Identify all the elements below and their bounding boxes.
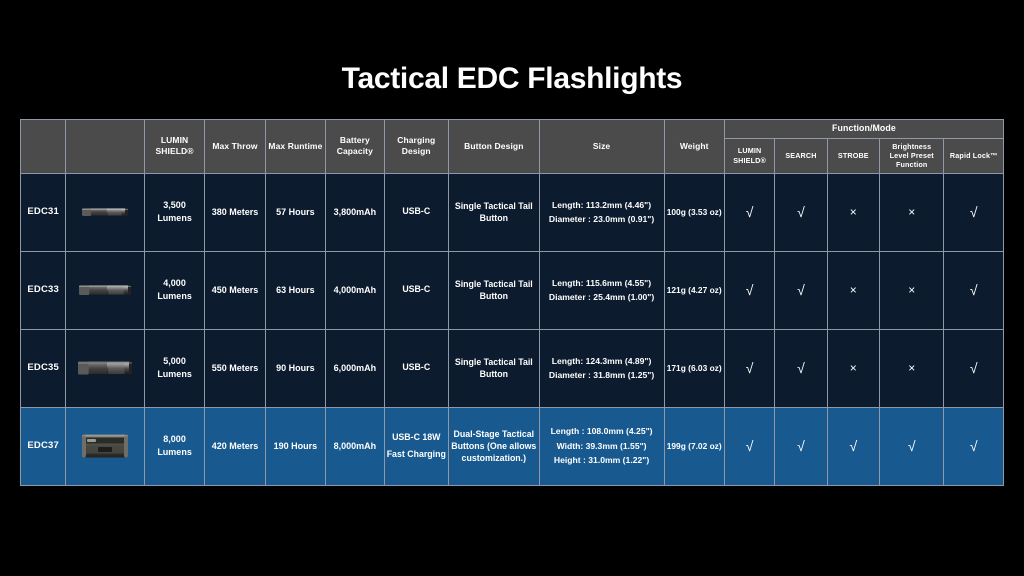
size-line-1: Length: 115.6mm (4.55"): [542, 276, 662, 291]
cell-size: Length : 108.0mm (4.25")Width: 39.3mm (1…: [539, 407, 664, 485]
cell-charging-design: USB-C 18WFast Charging: [384, 407, 448, 485]
table-row[interactable]: EDC35 5,000 Lumens550 Meters90 Hours6,00…: [21, 329, 1004, 407]
header-model: [21, 120, 66, 174]
cell-battery-capacity: 4,000mAh: [326, 251, 384, 329]
check-icon: √: [797, 358, 805, 378]
cross-icon: ×: [908, 360, 915, 377]
header-weight: Weight: [664, 120, 724, 174]
cell-battery-capacity: 6,000mAh: [326, 329, 384, 407]
cell-button-design: Single Tactical Tail Button: [448, 251, 539, 329]
cell-func-strobe: ×: [827, 173, 879, 251]
header-func-brightness: Brightness Level Preset Function: [879, 138, 943, 173]
cell-func-lumin-shield: √: [724, 329, 774, 407]
cell-size: Length: 124.3mm (4.89")Diameter : 31.8mm…: [539, 329, 664, 407]
cell-func-rapid-lock: √: [944, 173, 1004, 251]
page-title: Tactical EDC Flashlights: [0, 62, 1024, 96]
cell-max-throw: 420 Meters: [205, 407, 265, 485]
cell-button-design: Single Tactical Tail Button: [448, 329, 539, 407]
check-icon: √: [797, 280, 805, 300]
header-func-rapid-lock: Rapid Lock™: [944, 138, 1004, 173]
check-icon: √: [797, 202, 805, 222]
cell-func-lumin-shield: √: [724, 173, 774, 251]
cell-func-rapid-lock: √: [944, 251, 1004, 329]
check-icon: √: [746, 436, 754, 456]
cell-charging-design: USB-C: [384, 173, 448, 251]
cell-func-strobe: ×: [827, 251, 879, 329]
check-icon: √: [746, 358, 754, 378]
cell-model: EDC35: [21, 329, 66, 407]
cross-icon: ×: [850, 282, 857, 299]
check-icon: √: [970, 202, 978, 222]
check-icon: √: [746, 280, 754, 300]
cell-max-throw: 550 Meters: [205, 329, 265, 407]
charging-line-1: USB-C: [387, 359, 446, 377]
flashlight-edc37: [66, 407, 145, 485]
flashlight-edc31: [66, 173, 145, 251]
size-line-1: Length: 113.2mm (4.46"): [542, 198, 662, 213]
check-icon: √: [908, 436, 916, 456]
cell-func-brightness: ×: [879, 329, 943, 407]
cell-weight: 199g (7.02 oz): [664, 407, 724, 485]
header-function-mode: Function/Mode: [724, 120, 1003, 139]
size-line-2: Width: 39.3mm (1.55"): [542, 439, 662, 454]
cell-weight: 100g (3.53 oz): [664, 173, 724, 251]
cell-weight: 121g (4.27 oz): [664, 251, 724, 329]
cross-icon: ×: [908, 204, 915, 221]
cell-max-runtime: 90 Hours: [265, 329, 325, 407]
cell-lumin-shield: 8,000 Lumens: [144, 407, 204, 485]
cell-model: EDC37: [21, 407, 66, 485]
cell-size: Length: 115.6mm (4.55")Diameter : 25.4mm…: [539, 251, 664, 329]
cell-max-throw: 380 Meters: [205, 173, 265, 251]
size-line-1: Length : 108.0mm (4.25"): [542, 424, 662, 439]
flashlight-illustration: [74, 426, 136, 466]
cell-charging-design: USB-C: [384, 251, 448, 329]
check-icon: √: [849, 436, 857, 456]
cell-model: EDC31: [21, 173, 66, 251]
spec-comparison-table: LUMIN SHIELD® Max Throw Max Runtime Batt…: [20, 119, 1004, 486]
cell-charging-design: USB-C: [384, 329, 448, 407]
check-icon: √: [970, 436, 978, 456]
cell-func-lumin-shield: √: [724, 407, 774, 485]
cell-func-rapid-lock: √: [944, 329, 1004, 407]
table-row[interactable]: EDC33 4,000 Lumens450 Meters63 Hours4,00…: [21, 251, 1004, 329]
cell-button-design: Dual-Stage Tactical Buttons (One allows …: [448, 407, 539, 485]
charging-line-1: USB-C: [387, 281, 446, 299]
table-row[interactable]: EDC37 8,000 Lumens420 Meters190 Hours8,0…: [21, 407, 1004, 485]
cross-icon: ×: [850, 360, 857, 377]
table-body: EDC31 3,500 Lumens380 Meters57 Hours3,80…: [21, 173, 1004, 485]
cell-max-runtime: 190 Hours: [265, 407, 325, 485]
header-button-design: Button Design: [448, 120, 539, 174]
header-image: [66, 120, 145, 174]
header-charging-design: Charging Design: [384, 120, 448, 174]
size-line-1: Length: 124.3mm (4.89"): [542, 354, 662, 369]
cell-func-rapid-lock: √: [944, 407, 1004, 485]
header-max-runtime: Max Runtime: [265, 120, 325, 174]
cell-func-brightness: √: [879, 407, 943, 485]
cell-size: Length: 113.2mm (4.46")Diameter : 23.0mm…: [539, 173, 664, 251]
cell-lumin-shield: 5,000 Lumens: [144, 329, 204, 407]
header-func-strobe: STROBE: [827, 138, 879, 173]
cross-icon: ×: [850, 204, 857, 221]
flashlight-edc33: [66, 251, 145, 329]
cell-model: EDC33: [21, 251, 66, 329]
cell-func-strobe: √: [827, 407, 879, 485]
cell-lumin-shield: 3,500 Lumens: [144, 173, 204, 251]
flashlight-illustration: [74, 192, 136, 232]
cell-func-lumin-shield: √: [724, 251, 774, 329]
cell-max-throw: 450 Meters: [205, 251, 265, 329]
check-icon: √: [746, 202, 754, 222]
cell-func-strobe: ×: [827, 329, 879, 407]
header-max-throw: Max Throw: [205, 120, 265, 174]
spec-table-container: LUMIN SHIELD® Max Throw Max Runtime Batt…: [20, 119, 1004, 486]
header-func-lumin-shield: LUMIN SHIELD®: [724, 138, 774, 173]
header-size: Size: [539, 120, 664, 174]
size-line-2: Diameter : 23.0mm (0.91"): [542, 212, 662, 227]
size-line-2: Diameter : 25.4mm (1.00"): [542, 290, 662, 305]
cell-battery-capacity: 8,000mAh: [326, 407, 384, 485]
charging-line-1: USB-C 18W: [387, 429, 446, 447]
table-header: LUMIN SHIELD® Max Throw Max Runtime Batt…: [21, 120, 1004, 174]
cell-lumin-shield: 4,000 Lumens: [144, 251, 204, 329]
header-row-top: LUMIN SHIELD® Max Throw Max Runtime Batt…: [21, 120, 1004, 139]
cell-button-design: Single Tactical Tail Button: [448, 173, 539, 251]
cell-func-search: √: [775, 329, 827, 407]
size-line-3: Height : 31.0mm (1.22"): [542, 453, 662, 468]
size-line-2: Diameter : 31.8mm (1.25"): [542, 368, 662, 383]
cell-weight: 171g (6.03 oz): [664, 329, 724, 407]
page-root: Tactical EDC Flashlights LUMIN SHIELD® M…: [0, 0, 1024, 576]
cell-func-brightness: ×: [879, 251, 943, 329]
cell-battery-capacity: 3,800mAh: [326, 173, 384, 251]
header-func-search: SEARCH: [775, 138, 827, 173]
header-battery-capacity: Battery Capacity: [326, 120, 384, 174]
charging-line-1: USB-C: [387, 203, 446, 221]
cell-func-search: √: [775, 173, 827, 251]
charging-line-2: Fast Charging: [387, 446, 446, 464]
flashlight-edc35: [66, 329, 145, 407]
header-lumin-shield: LUMIN SHIELD®: [144, 120, 204, 174]
cell-func-brightness: ×: [879, 173, 943, 251]
flashlight-illustration: [74, 348, 136, 388]
check-icon: √: [970, 358, 978, 378]
table-row[interactable]: EDC31 3,500 Lumens380 Meters57 Hours3,80…: [21, 173, 1004, 251]
cell-func-search: √: [775, 407, 827, 485]
cell-max-runtime: 57 Hours: [265, 173, 325, 251]
check-icon: √: [797, 436, 805, 456]
check-icon: √: [970, 280, 978, 300]
cell-func-search: √: [775, 251, 827, 329]
flashlight-illustration: [74, 270, 136, 310]
cross-icon: ×: [908, 282, 915, 299]
cell-max-runtime: 63 Hours: [265, 251, 325, 329]
